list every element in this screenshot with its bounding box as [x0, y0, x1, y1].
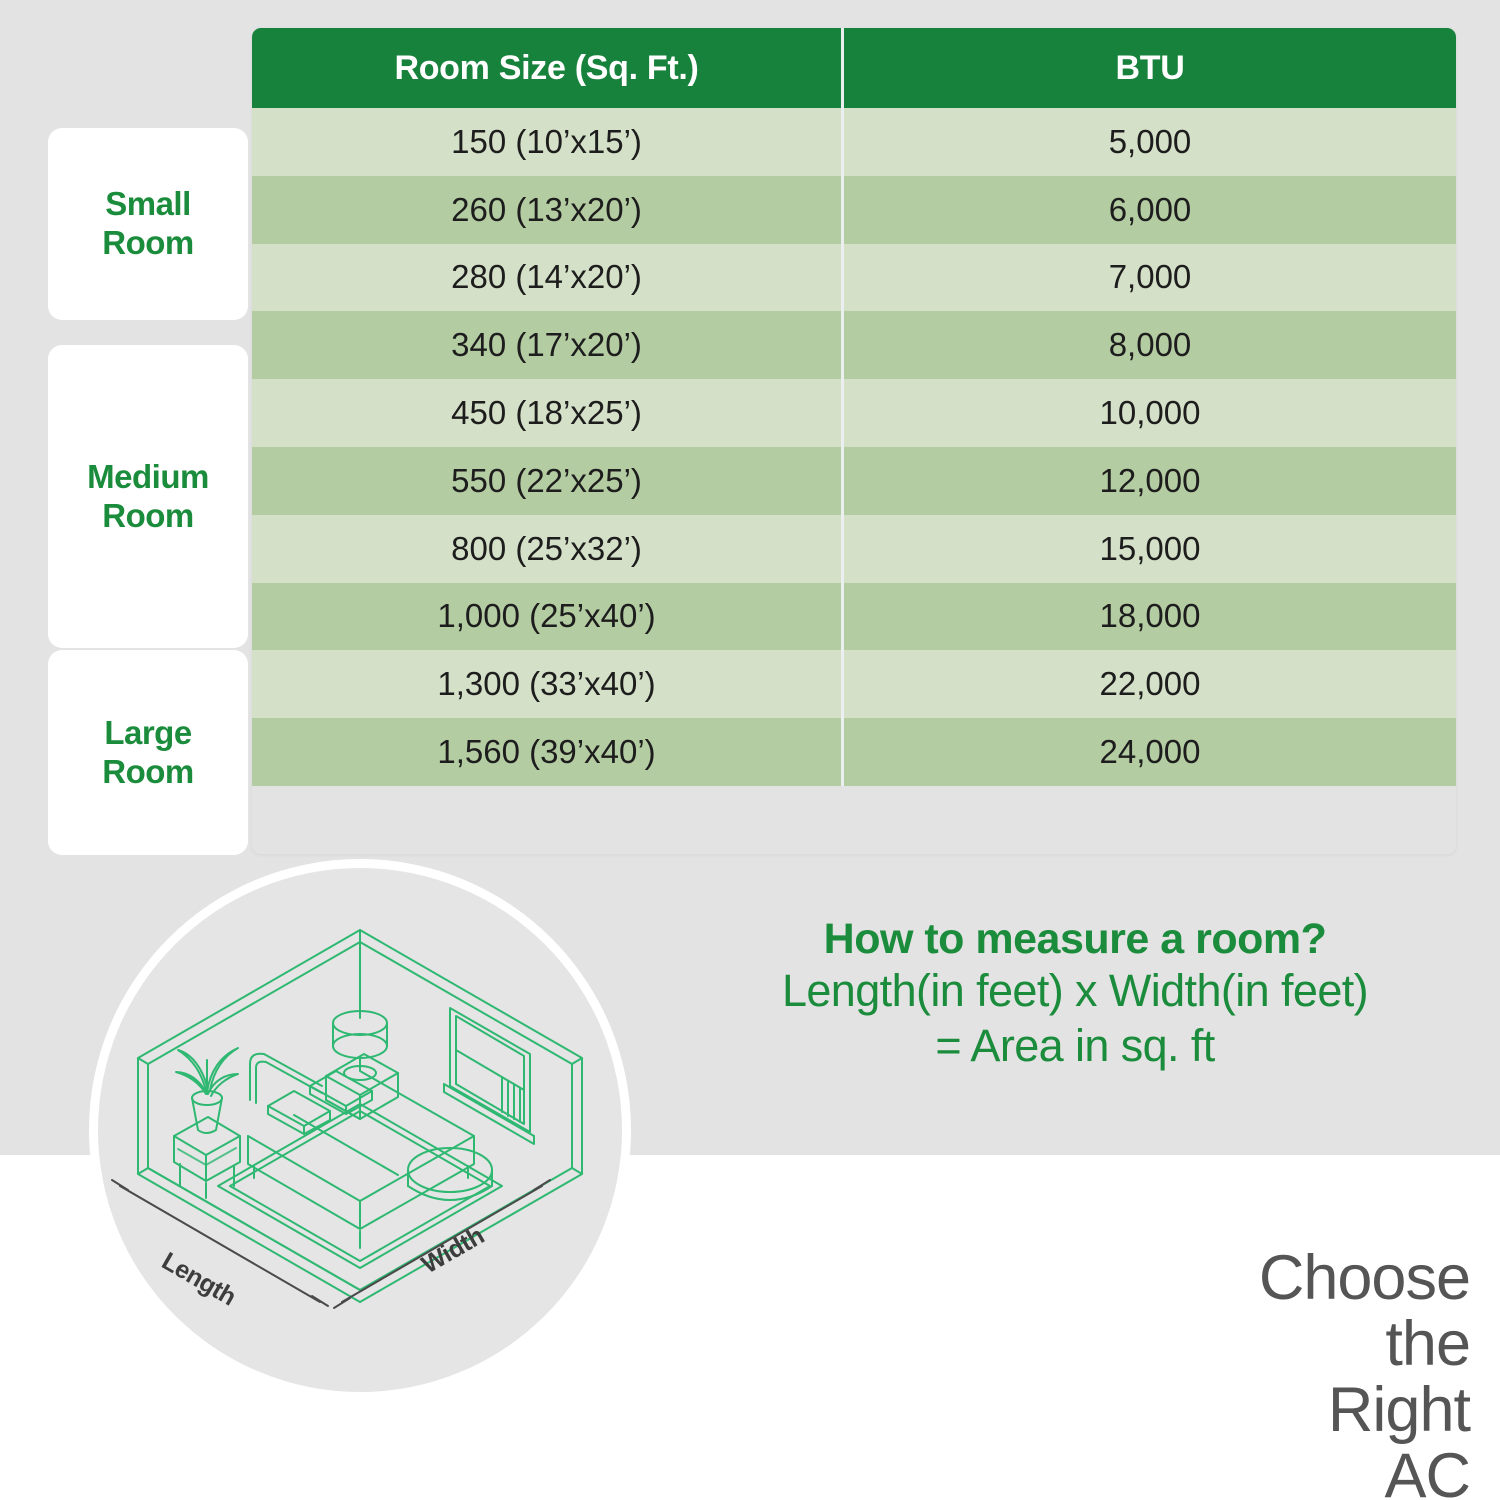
cell-room-size: 1,560 (39’x40’)	[252, 718, 844, 786]
isometric-room-drawing: Length Width	[98, 868, 622, 1392]
category-label-small: Small Room	[102, 185, 194, 263]
cell-room-size: 1,300 (33’x40’)	[252, 650, 844, 718]
table-row: 1,000 (25’x40’) 18,000	[252, 583, 1456, 651]
cell-btu: 6,000	[844, 176, 1456, 244]
table-row: 260 (13’x20’) 6,000	[252, 176, 1456, 244]
table-header-btu: BTU	[844, 28, 1456, 108]
cell-room-size: 150 (10’x15’)	[252, 108, 844, 176]
cell-btu: 22,000	[844, 650, 1456, 718]
cell-room-size: 260 (13’x20’)	[252, 176, 844, 244]
table-row: 550 (22’x25’) 12,000	[252, 447, 1456, 515]
table-row: 1,300 (33’x40’) 22,000	[252, 650, 1456, 718]
bottom-headline: Choose the Right AC Size Fit Your Room	[1259, 1245, 1470, 1500]
room-illustration: Length Width	[98, 868, 622, 1392]
length-dimension-label: Length	[157, 1247, 241, 1311]
measure-title: How to measure a room?	[690, 915, 1460, 964]
table-header-room-size: Room Size (Sq. Ft.)	[252, 28, 844, 108]
cell-btu: 5,000	[844, 108, 1456, 176]
cell-room-size: 280 (14’x20’)	[252, 244, 844, 312]
cell-btu: 18,000	[844, 583, 1456, 651]
measure-formula-line-2: = Area in sq. ft	[690, 1019, 1460, 1074]
category-label-large: Large Room	[102, 714, 194, 792]
measure-formula-line-1: Length(in feet) x Width(in feet)	[690, 964, 1460, 1019]
table-row: 800 (25’x32’) 15,000	[252, 515, 1456, 583]
headline-subtitle: Choose the Right AC Size	[1259, 1245, 1470, 1500]
measure-instructions: How to measure a room? Length(in feet) x…	[690, 915, 1460, 1074]
cell-btu: 8,000	[844, 311, 1456, 379]
infographic-canvas: Small Room Medium Room Large Room Room S…	[0, 0, 1500, 1500]
table-row: 450 (18’x25’) 10,000	[252, 379, 1456, 447]
category-small-line2: Room	[102, 224, 194, 261]
cell-room-size: 340 (17’x20’)	[252, 311, 844, 379]
cell-btu: 15,000	[844, 515, 1456, 583]
table-row: 1,560 (39’x40’) 24,000	[252, 718, 1456, 786]
category-medium-line1: Medium	[87, 458, 209, 495]
btu-sizing-table: Room Size (Sq. Ft.) BTU 150 (10’x15’) 5,…	[252, 28, 1456, 854]
category-label-medium: Medium Room	[87, 458, 209, 536]
category-card-medium-room: Medium Room	[48, 345, 248, 648]
category-large-line2: Room	[102, 753, 194, 790]
cell-btu: 12,000	[844, 447, 1456, 515]
table-header-row: Room Size (Sq. Ft.) BTU	[252, 28, 1456, 108]
cell-room-size: 1,000 (25’x40’)	[252, 583, 844, 651]
category-card-large-room: Large Room	[48, 650, 248, 855]
table-row: 150 (10’x15’) 5,000	[252, 108, 1456, 176]
category-card-small-room: Small Room	[48, 128, 248, 320]
cell-room-size: 450 (18’x25’)	[252, 379, 844, 447]
table-row: 340 (17’x20’) 8,000	[252, 311, 1456, 379]
cell-btu: 24,000	[844, 718, 1456, 786]
category-medium-line2: Room	[102, 497, 194, 534]
category-large-line1: Large	[104, 714, 191, 751]
table-row: 280 (14’x20’) 7,000	[252, 244, 1456, 312]
category-small-line1: Small	[105, 185, 191, 222]
cell-btu: 10,000	[844, 379, 1456, 447]
cell-room-size: 550 (22’x25’)	[252, 447, 844, 515]
cell-btu: 7,000	[844, 244, 1456, 312]
width-dimension-label: Width	[417, 1222, 489, 1280]
cell-room-size: 800 (25’x32’)	[252, 515, 844, 583]
